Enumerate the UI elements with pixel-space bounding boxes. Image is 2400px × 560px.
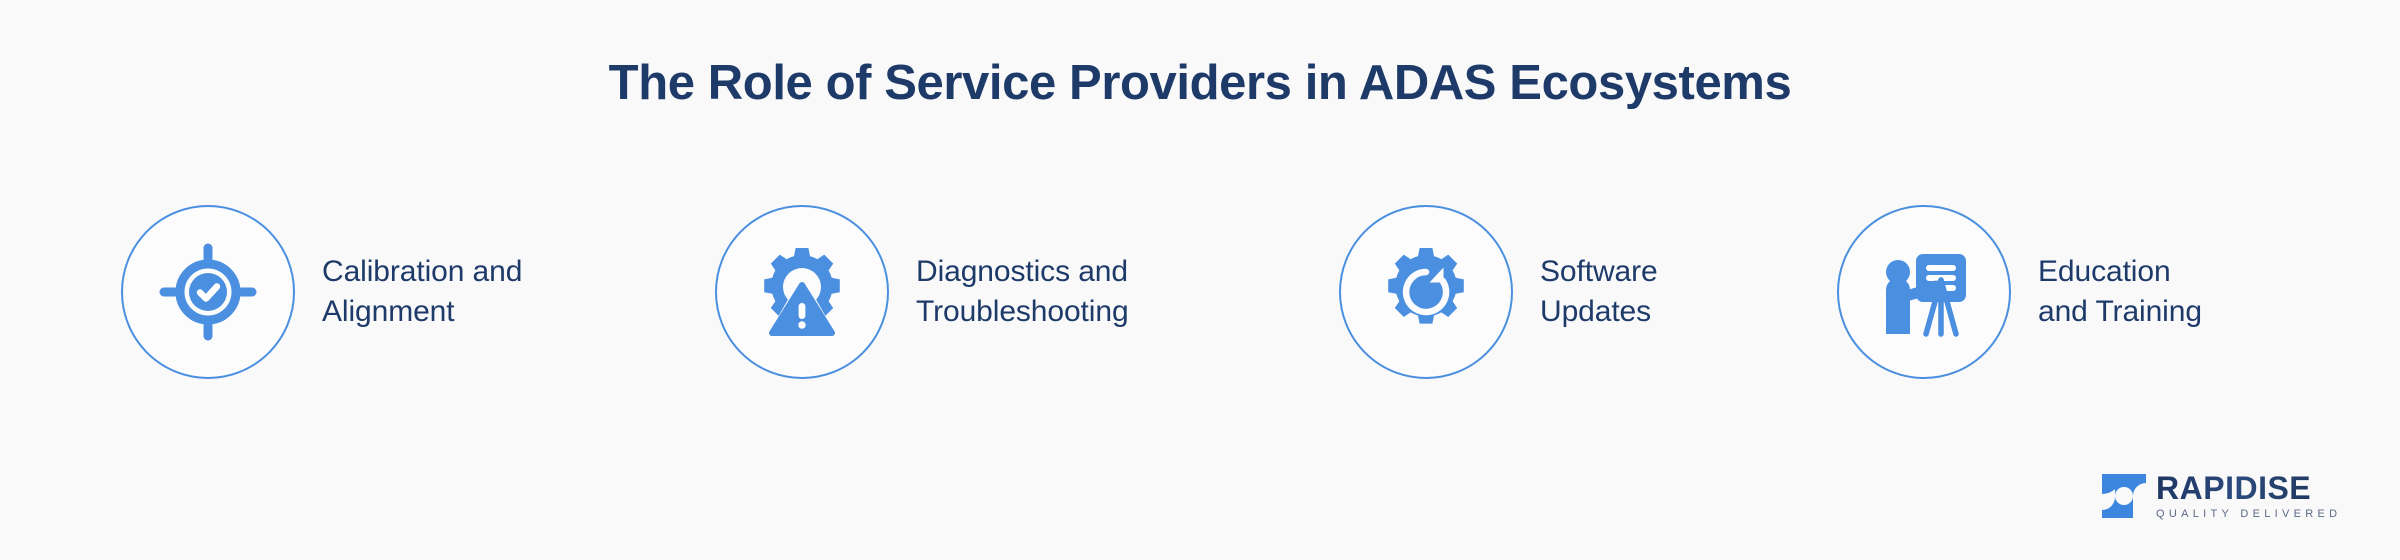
icon-circle-calibration [121,205,295,379]
feature-item-software-updates[interactable]: Software Updates [1339,203,1658,381]
rapidise-logo[interactable]: RAPIDISE QUALITY DELIVERED [2102,472,2341,520]
rapidise-logo-text: RAPIDISE QUALITY DELIVERED [2156,472,2341,520]
infographic-banner: The Role of Service Providers in ADAS Ec… [0,0,2400,560]
gear-warning-triangle-icon [750,240,854,344]
feature-label-diagnostics: Diagnostics and Troubleshooting [916,252,1129,332]
title-row: The Role of Service Providers in ADAS Ec… [0,24,2400,144]
icon-circle-software-updates [1339,205,1513,379]
gear-refresh-arrow-icon [1374,240,1478,344]
rapidise-pinwheel-logo-mark [2102,474,2146,518]
rapidise-wordmark: RAPIDISE [2156,472,2341,504]
page-title: The Role of Service Providers in ADAS Ec… [609,57,1792,111]
feature-label-calibration: Calibration and Alignment [322,252,522,332]
feature-label-software-updates: Software Updates [1540,252,1658,332]
rapidise-tagline: QUALITY DELIVERED [2156,509,2341,520]
feature-item-diagnostics[interactable]: Diagnostics and Troubleshooting [715,203,1129,381]
feature-item-calibration[interactable]: Calibration and Alignment [121,203,522,381]
presenter-whiteboard-icon [1872,240,1976,344]
calibration-target-check-icon [156,240,260,344]
icon-circle-diagnostics [715,205,889,379]
feature-items-row: Calibration and Alignment [0,203,2400,385]
icon-circle-education [1837,205,2011,379]
feature-item-education[interactable]: Education and Training [1837,203,2202,381]
feature-label-education: Education and Training [2038,252,2202,332]
